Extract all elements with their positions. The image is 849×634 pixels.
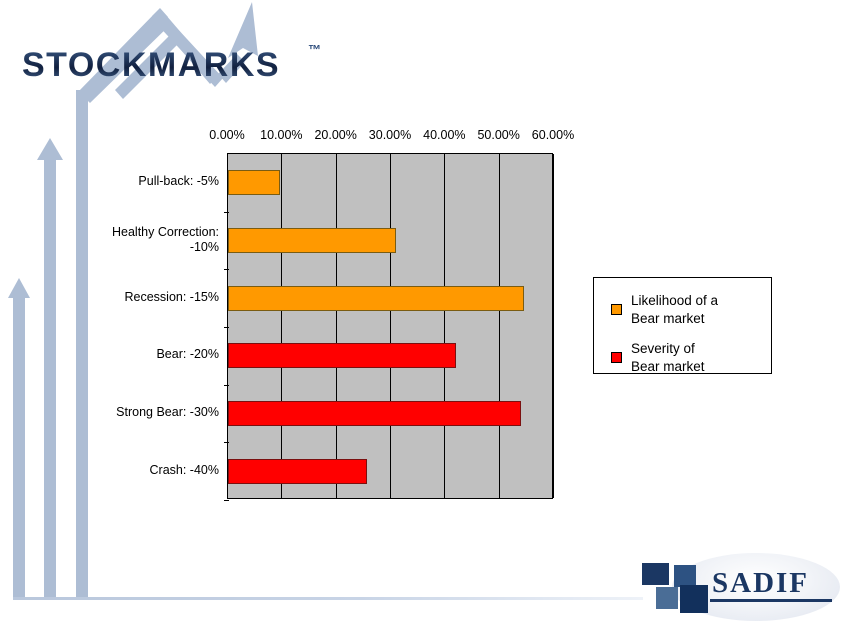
sadif-square-1 (642, 563, 669, 585)
category-tick (224, 500, 229, 501)
baseline-rule (13, 597, 643, 600)
x-tick-label: 50.00% (477, 128, 519, 142)
x-tick-label: 40.00% (423, 128, 465, 142)
arrow-short (8, 278, 30, 598)
x-tick-label: 30.00% (369, 128, 411, 142)
category-label: Strong Bear: -30% (49, 405, 219, 420)
x-tick-label: 20.00% (314, 128, 356, 142)
x-tick-label: 60.00% (532, 128, 574, 142)
bar[interactable] (228, 343, 456, 368)
legend-swatch (611, 352, 622, 363)
sadif-square-4 (680, 585, 708, 613)
brand-logo: STOCKMARKS ™ (10, 20, 330, 80)
sadif-wordmark: SADIF (712, 567, 809, 600)
sadif-square-2 (674, 565, 696, 587)
gridline (336, 154, 337, 498)
x-axis-tick-labels: 0.00%10.00%20.00%30.00%40.00%50.00%60.00… (0, 128, 849, 146)
category-label: Healthy Correction: -10% (49, 225, 219, 255)
category-tick (224, 327, 229, 328)
sadif-logo: SADIF (636, 551, 841, 623)
category-label: Crash: -40% (49, 463, 219, 478)
gridline (499, 154, 500, 498)
category-tick (224, 442, 229, 443)
category-label: Pull-back: -5% (49, 174, 219, 189)
bar[interactable] (228, 286, 524, 311)
sadif-square-3 (656, 587, 678, 609)
bar[interactable] (228, 170, 280, 195)
plot-area (227, 153, 553, 499)
x-tick-label: 10.00% (260, 128, 302, 142)
legend-label: Severity of Bear market (631, 340, 705, 376)
gridline (553, 154, 554, 498)
category-tick (224, 212, 229, 213)
trademark-symbol: ™ (308, 42, 321, 57)
category-tick (224, 269, 229, 270)
category-tick (224, 385, 229, 386)
bar[interactable] (228, 401, 521, 426)
sadif-underline (710, 599, 832, 602)
bar[interactable] (228, 228, 396, 253)
category-axis-labels: Pull-back: -5%Healthy Correction: -10%Re… (47, 153, 219, 499)
category-label: Recession: -15% (49, 290, 219, 305)
brand-wordmark: STOCKMARKS (22, 46, 280, 85)
bar[interactable] (228, 459, 367, 484)
legend-swatch (611, 304, 622, 315)
x-tick-label: 0.00% (209, 128, 244, 142)
category-label: Bear: -20% (49, 347, 219, 362)
gridline (281, 154, 282, 498)
gridline (444, 154, 445, 498)
gridline (390, 154, 391, 498)
chart-legend: Likelihood of a Bear marketSeverity of B… (593, 277, 772, 374)
legend-label: Likelihood of a Bear market (631, 292, 718, 328)
